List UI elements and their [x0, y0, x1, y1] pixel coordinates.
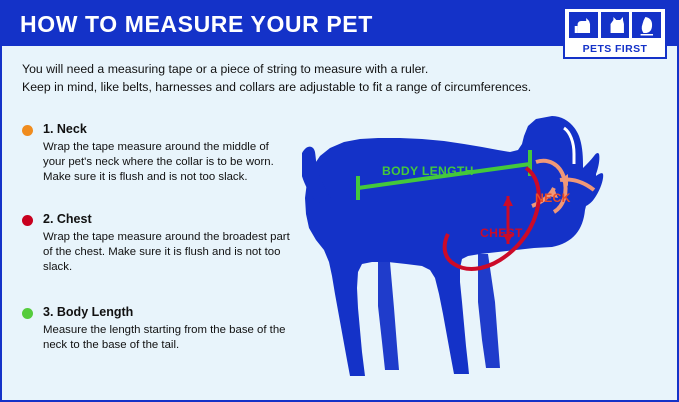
label-neck: NECK: [535, 191, 571, 205]
logo-wordmark: PETS FIRST: [565, 43, 665, 55]
logo-bird-icon: [632, 12, 661, 38]
dog-silhouette-icon: [302, 116, 603, 376]
intro-line-1: You will need a measuring tape or a piec…: [22, 60, 622, 78]
step-bullet-body-length: [22, 308, 33, 319]
intro-paragraph: You will need a measuring tape or a piec…: [22, 60, 622, 96]
page-title: HOW TO MEASURE YOUR PET: [20, 11, 373, 38]
step-body-body-length: Measure the length starting from the bas…: [43, 323, 293, 353]
step-bullet-chest: [22, 215, 33, 226]
dog-illustration: BODY LENGTH NECK CHEST: [302, 102, 674, 392]
step-title-chest: 2. Chest: [43, 212, 92, 226]
logo-dog-icon: [569, 12, 598, 38]
intro-line-2: Keep in mind, like belts, harnesses and …: [22, 78, 622, 96]
step-title-body-length: 3. Body Length: [43, 305, 133, 319]
logo-cat-icon: [601, 12, 630, 38]
logo-pet-icons: [569, 12, 661, 38]
infographic-page: HOW TO MEASURE YOUR PET: [0, 0, 679, 402]
label-chest: CHEST: [480, 226, 523, 240]
label-body-length: BODY LENGTH: [382, 164, 474, 178]
step-body-neck: Wrap the tape measure around the middle …: [43, 140, 293, 185]
dog-diagram-svg: [302, 102, 674, 392]
step-body-chest: Wrap the tape measure around the broades…: [43, 230, 293, 275]
brand-logo: PETS FIRST: [563, 7, 667, 59]
step-title-neck: 1. Neck: [43, 122, 87, 136]
step-bullet-neck: [22, 125, 33, 136]
